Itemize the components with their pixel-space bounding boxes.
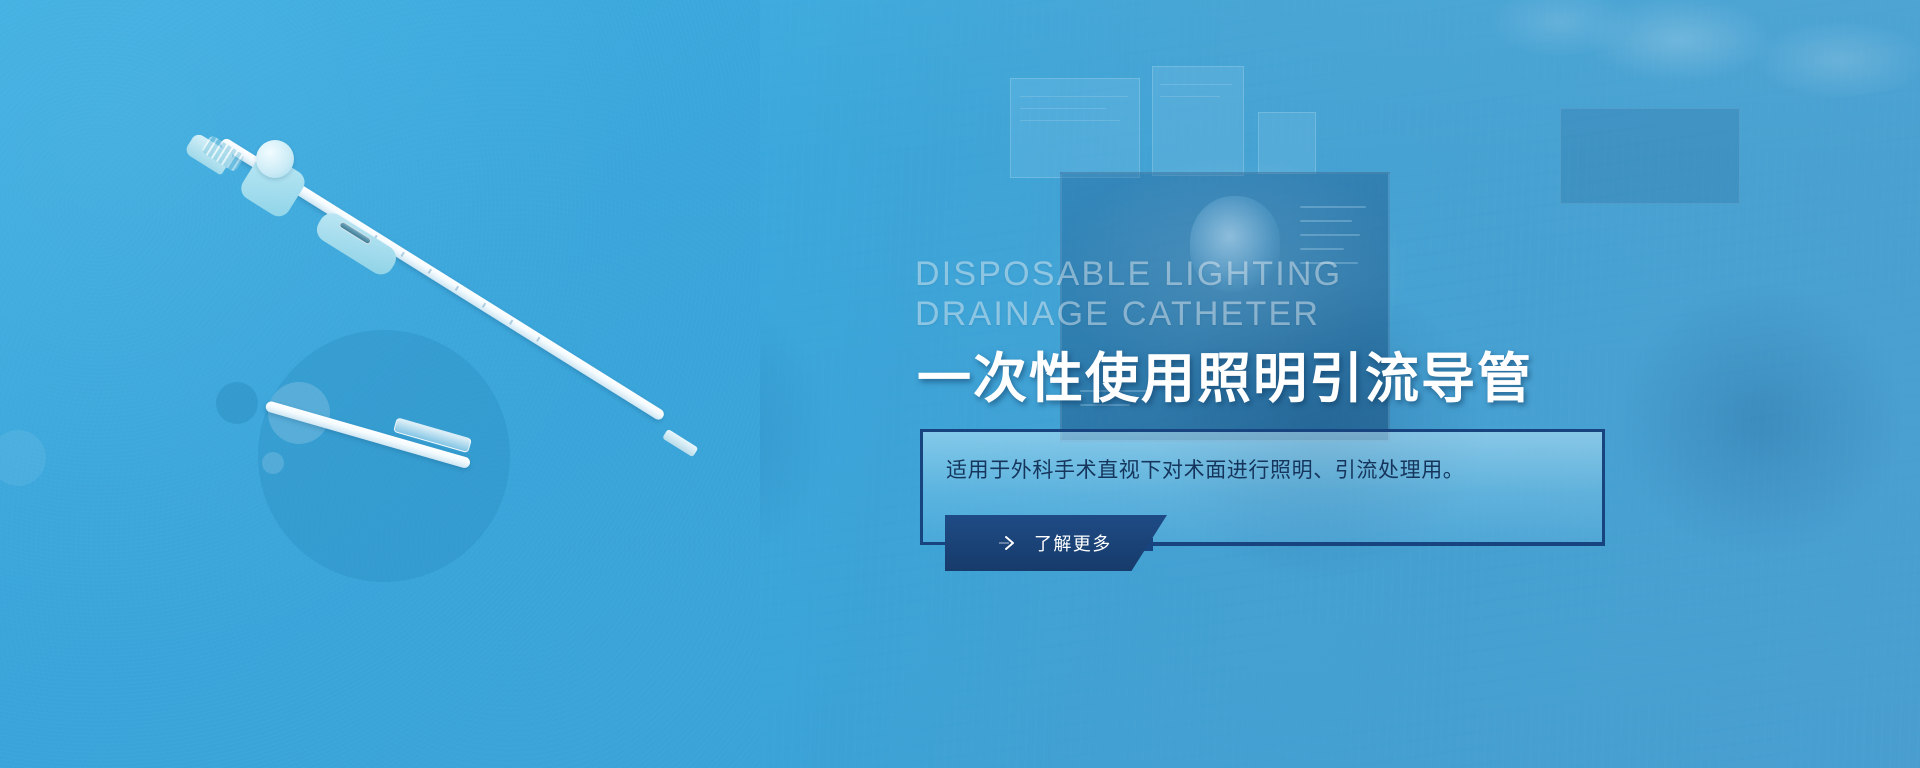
arrow-right-icon	[998, 535, 1022, 551]
banner-description-text: 适用于外科手术直视下对术面进行照明、引流处理用。	[946, 456, 1586, 486]
banner-eyebrow-english: DISPOSABLE LIGHTING DRAINAGE CATHETER	[915, 254, 1342, 334]
learn-more-label: 了解更多	[1034, 530, 1112, 556]
hero-banner: DISPOSABLE LIGHTING DRAINAGE CATHETER 一次…	[0, 0, 1920, 768]
banner-headline: 一次性使用照明引流导管	[917, 348, 1533, 410]
learn-more-button[interactable]: 了解更多	[945, 515, 1167, 571]
cta-connector-line	[1140, 543, 1605, 546]
banner-content: DISPOSABLE LIGHTING DRAINAGE CATHETER 一次…	[0, 0, 1920, 768]
